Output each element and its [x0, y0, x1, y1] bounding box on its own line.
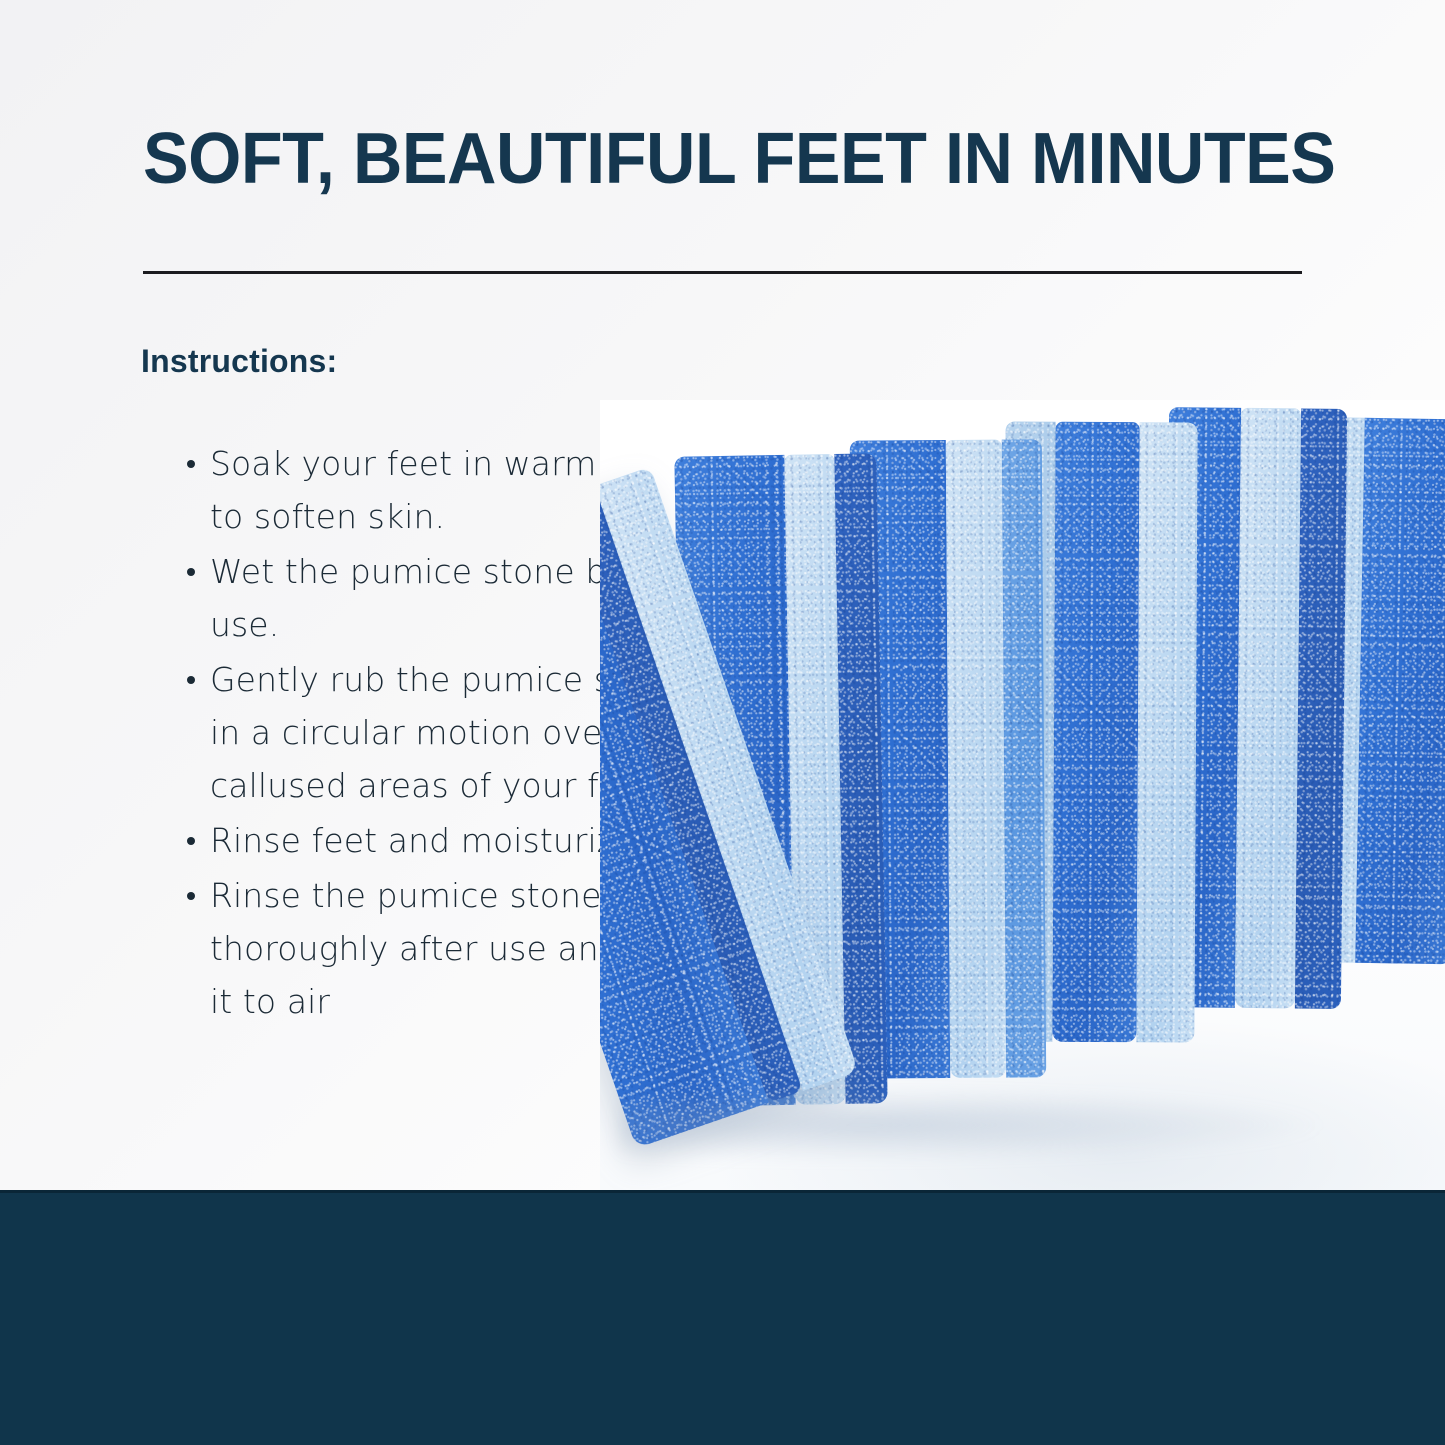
instructions-heading: Instructions: [141, 341, 337, 381]
stone-royal-layer [1355, 418, 1445, 965]
header-divider [143, 271, 1302, 274]
stone-royal-layer [1052, 422, 1139, 1042]
footer-bar: DeEnti PROFESSIONAL COSMETICS [0, 1190, 1445, 1445]
stone-royal-layer [1295, 408, 1347, 1008]
page-title: SOFT, BEAUTIFUL FEET IN MINUTES [143, 117, 1264, 201]
stone-light-layer [946, 440, 1006, 1078]
product-shadow [620, 1090, 1320, 1160]
stone-light-layer [1136, 422, 1197, 1042]
product-infographic-page: SOFT, BEAUTIFUL FEET IN MINUTES Instruct… [0, 0, 1445, 1445]
stone-light-layer [1235, 408, 1301, 1009]
stone-mid-layer [1002, 439, 1046, 1077]
product-photo [600, 400, 1445, 1190]
